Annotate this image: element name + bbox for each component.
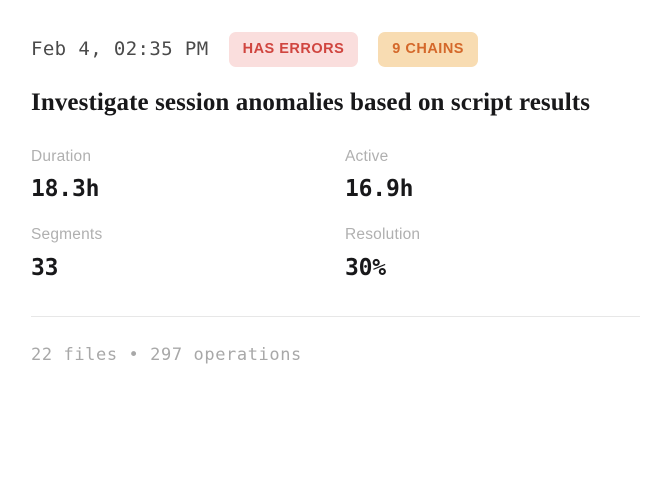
footer-meta: 22 files • 297 operations bbox=[31, 345, 640, 365]
card-header: Feb 4, 02:35 PM HAS ERRORS 9 CHAINS bbox=[31, 31, 640, 67]
section-divider bbox=[31, 316, 640, 317]
stat-label-resolution: Resolution bbox=[345, 227, 640, 243]
stats-grid: Duration 18.3h Active 16.9h Segments 33 … bbox=[31, 149, 640, 280]
status-badge-has-errors[interactable]: HAS ERRORS bbox=[229, 32, 359, 67]
stat-value-active: 16.9h bbox=[345, 178, 640, 201]
stat-active: Active 16.9h bbox=[345, 149, 640, 202]
stat-label-duration: Duration bbox=[31, 149, 345, 165]
stat-segments: Segments 33 bbox=[31, 227, 345, 280]
stat-label-segments: Segments bbox=[31, 227, 345, 243]
stat-value-segments: 33 bbox=[31, 257, 345, 280]
stat-duration: Duration 18.3h bbox=[31, 149, 345, 202]
session-summary-card: Feb 4, 02:35 PM HAS ERRORS 9 CHAINS Inve… bbox=[0, 0, 662, 480]
page-title: Investigate session anomalies based on s… bbox=[31, 89, 640, 118]
stat-value-duration: 18.3h bbox=[31, 178, 345, 201]
stat-label-active: Active bbox=[345, 149, 640, 165]
status-badge-chains[interactable]: 9 CHAINS bbox=[378, 32, 478, 67]
session-timestamp: Feb 4, 02:35 PM bbox=[31, 38, 209, 60]
stat-resolution: Resolution 30% bbox=[345, 227, 640, 280]
stat-value-resolution: 30% bbox=[345, 257, 640, 280]
